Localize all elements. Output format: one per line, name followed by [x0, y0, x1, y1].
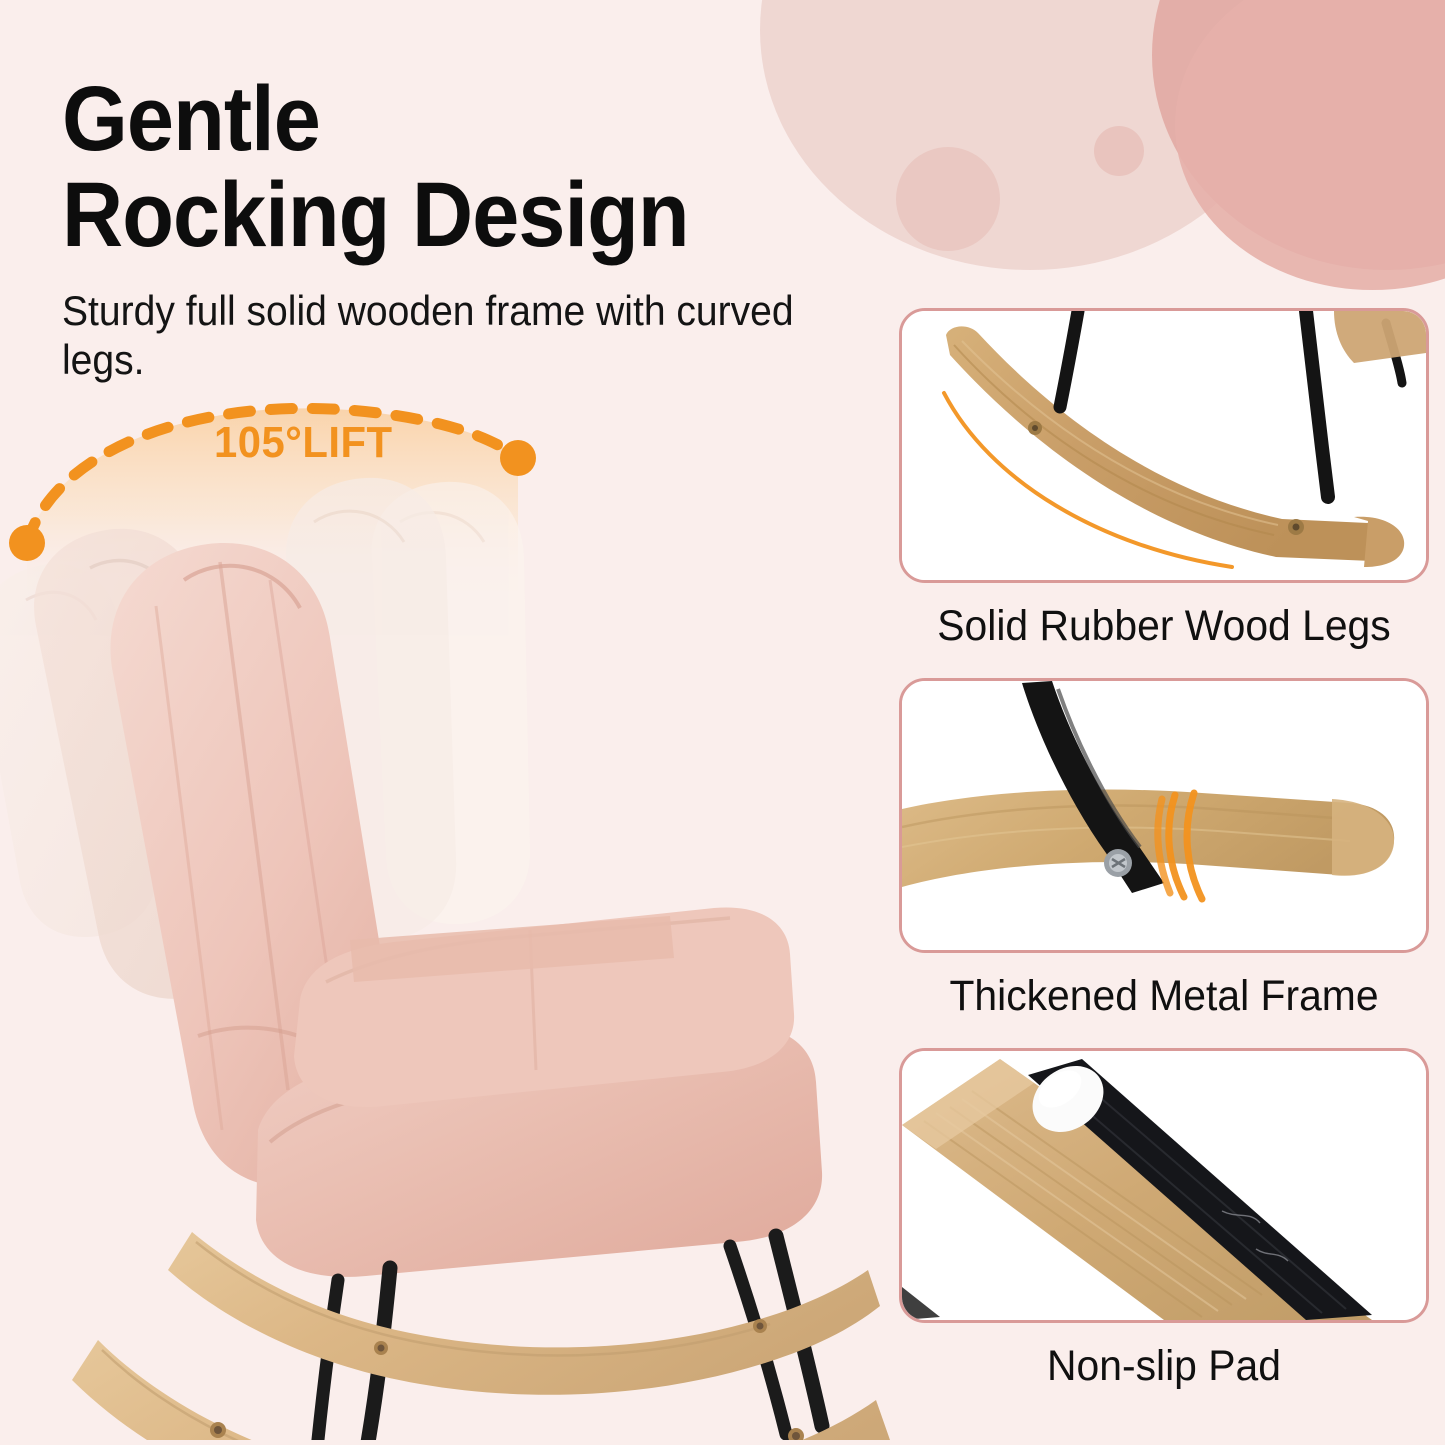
- detail-panel-wood-legs: [899, 308, 1429, 583]
- decorative-dot-large: [896, 147, 1000, 251]
- panel-caption-nonslip-pad: Non-slip Pad: [912, 1342, 1416, 1391]
- decorative-dot-small: [1094, 126, 1144, 176]
- wood-leg-photo: [902, 311, 1426, 580]
- panel-caption-wood-legs: Solid Rubber Wood Legs: [912, 602, 1416, 651]
- decorative-blob-rose-mid: [1175, 0, 1445, 290]
- metal-frame-photo: [902, 681, 1426, 950]
- detail-panel-nonslip-pad: [899, 1048, 1429, 1323]
- product-infographic: Gentle Rocking Design Sturdy full solid …: [0, 0, 1445, 1445]
- panel-caption-metal-frame: Thickened Metal Frame: [912, 972, 1416, 1021]
- detail-panel-metal-frame: [899, 678, 1429, 953]
- page-title: Gentle Rocking Design: [62, 72, 826, 263]
- decorative-blob-rose-large: [1152, 0, 1445, 270]
- rocking-chair-graphic: [0, 430, 900, 1440]
- headline-block: Gentle Rocking Design Sturdy full solid …: [62, 72, 892, 384]
- nonslip-pad-photo: [902, 1051, 1426, 1320]
- hero-chair-illustration: [0, 430, 900, 1440]
- page-subtitle: Sturdy full solid wooden frame with curv…: [62, 287, 834, 384]
